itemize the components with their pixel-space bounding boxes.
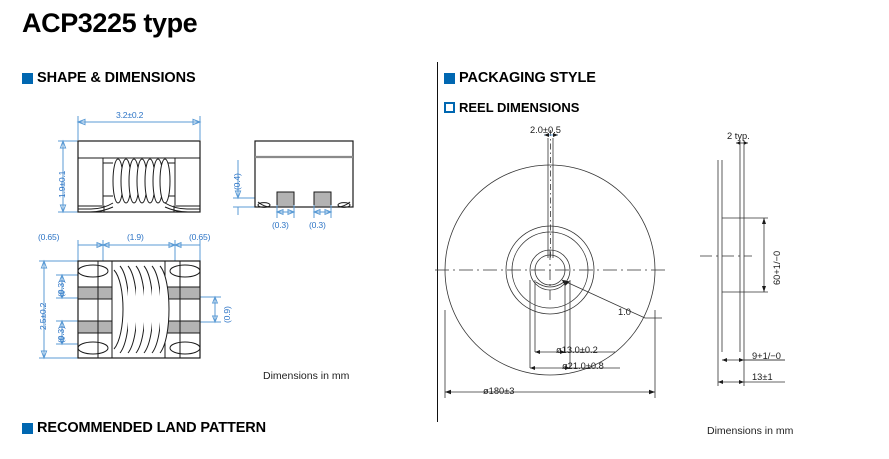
dimension-label-flange-thickness: 2 typ.	[727, 131, 750, 141]
dimension-label-pad-depth-top: (0.3)	[56, 280, 66, 297]
dimension-label-overall-width: 13±1	[752, 372, 773, 382]
dimension-label-hub-bore: ø13.0±0.2	[556, 345, 598, 355]
bottom-view-body	[78, 261, 200, 358]
dimension-label-hub-width: 9+1/−0	[752, 351, 781, 361]
dimension-label-tape-width: 60+1/−0	[772, 251, 782, 285]
section-header-recommended-land-pattern: RECOMMENDED LAND PATTERN	[22, 420, 266, 436]
caption-dimensions-right: Dimensions in mm	[707, 425, 793, 437]
dimension-label-hub-outer: ø21.0±0.8	[562, 361, 604, 371]
section-marker-icon	[22, 423, 33, 434]
dimension-label-pad-width-left: (0.65)	[38, 232, 59, 242]
dimension-label-overall-depth: 2.5±0.2	[38, 303, 48, 330]
dimension-label-reel-slot-width: 2.0±0.5	[530, 125, 561, 135]
dimension-row-bottom-top	[78, 240, 200, 262]
reel-slot	[544, 130, 558, 258]
dimension-label-pad-depth-bottom: (0.3)	[56, 326, 66, 343]
reel-side-view-drawing	[690, 0, 889, 420]
dimension-label-center-gap: (1.9)	[127, 232, 144, 242]
dimension-label-flange-diameter: ø180±3	[483, 386, 514, 396]
bottom-view-drawing	[0, 0, 440, 400]
section-header-recommended-land-pattern-label: RECOMMENDED LAND PATTERN	[37, 420, 266, 436]
reel-front-view-drawing	[440, 0, 700, 420]
dimension-label-tape-callout: 1.0	[618, 307, 631, 317]
dimension-label-pad-width-right: (0.65)	[189, 232, 210, 242]
dimension-label-inner-span: (0.9)	[222, 306, 232, 323]
